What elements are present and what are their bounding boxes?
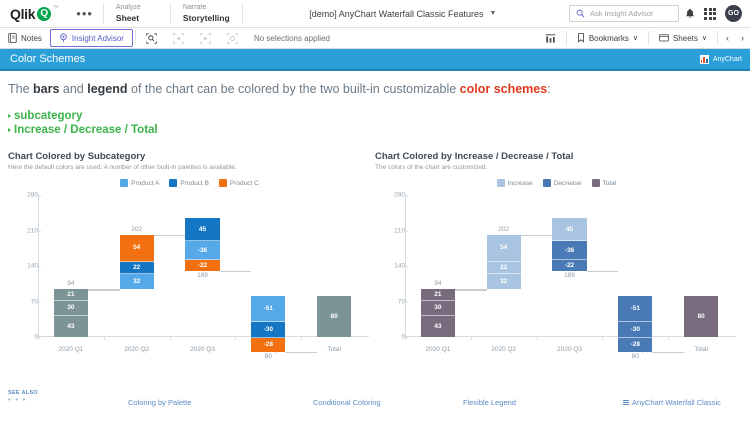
chart-bar-segment[interactable]: -36 — [552, 241, 586, 260]
bookmarks-label: Bookmarks — [589, 34, 629, 43]
x-axis-tick: 2020 Q3 — [557, 346, 582, 353]
chart-bar-segment[interactable]: 30 — [421, 301, 455, 317]
selection-status-text: No selections applied — [254, 34, 330, 43]
chart-bar-segment[interactable]: 80 — [317, 296, 351, 337]
selections-search-button[interactable] — [138, 28, 165, 48]
panel-title: Chart Colored by Increase / Decrease / T… — [375, 151, 738, 162]
y-axis-tick: 280 — [375, 192, 405, 199]
triangle-right-icon — [8, 128, 11, 132]
chart-bar-segment[interactable]: 45 — [552, 218, 586, 241]
y-axis-tick: 140 — [8, 263, 38, 270]
bar-total-label: 80 — [265, 353, 272, 360]
waterfall-connector — [587, 271, 619, 273]
selection-back-button[interactable] — [165, 28, 192, 48]
avatar[interactable]: GO — [725, 5, 742, 22]
anychart-logo-icon — [700, 55, 709, 64]
chart-bar-segment[interactable]: 30 — [54, 301, 88, 317]
previous-sheet-button[interactable]: ‹ — [720, 28, 735, 48]
see-also-block: SEE ALSO • • • — [8, 390, 128, 404]
sheets-icon — [659, 34, 669, 43]
x-axis-tickmark — [602, 337, 603, 340]
insight-advisor-search[interactable]: Ask Insight Advisor — [569, 5, 679, 22]
qlik-logo-badge-icon: Q — [37, 7, 51, 21]
panel-subtitle: Here the default colors are used. A numb… — [8, 164, 371, 171]
y-axis-tick: 210 — [375, 227, 405, 234]
bar-total-label: 94 — [67, 280, 74, 287]
bar-total-label: 189 — [197, 272, 208, 279]
toc-label: subcategory — [14, 109, 82, 123]
chevron-down-icon: ▼ — [489, 10, 496, 17]
notifications-bell-icon[interactable] — [685, 8, 695, 19]
bar-total-label: 202 — [498, 226, 509, 233]
waterfall-chart-subcategory[interactable]: Product AProduct BProduct C 070140210280… — [8, 177, 371, 362]
chart-bar-segment[interactable]: -22 — [185, 260, 219, 271]
bar-total-label: 80 — [632, 353, 639, 360]
next-sheet-button[interactable]: › — [735, 28, 750, 48]
x-axis-tick: Total — [327, 346, 341, 353]
footer: SEE ALSO • • • Coloring by Palette Condi… — [0, 386, 750, 422]
toc-label: Increase / Decrease / Total — [14, 123, 158, 137]
x-axis-tickmark — [668, 337, 669, 340]
qlik-logo-text: Qlik — [10, 6, 35, 22]
anychart-brand-label: AnyChart — [713, 56, 742, 63]
chart-bar[interactable]: 542232 — [120, 235, 154, 290]
page-title: [demo] AnyChart Waterfall Classic Featur… — [309, 9, 483, 19]
chart-bar-segment[interactable]: -28 — [618, 338, 652, 352]
legend-swatch-icon — [592, 179, 600, 187]
chart-plot-area: 0701402102802020 Q12020 Q22020 Q32020 Q4… — [375, 189, 738, 359]
footer-link-flexible-legend[interactable]: Flexible Legend — [463, 398, 623, 407]
x-axis-tickmark — [38, 337, 39, 340]
waterfall-connector — [88, 289, 120, 291]
chart-overview-icon — [545, 33, 556, 44]
topbar-icon-group: GO — [685, 0, 750, 27]
anychart-brand[interactable]: AnyChart — [700, 55, 742, 64]
chart-bar-segment[interactable]: -30 — [618, 322, 652, 338]
search-input[interactable]: Ask Insight Advisor — [590, 9, 653, 18]
chart-bar-segment[interactable]: 43 — [421, 316, 455, 337]
chart-bar-segment[interactable]: -28 — [251, 338, 285, 352]
chart-bar-segment[interactable]: -51 — [618, 296, 652, 322]
intro-part1: The — [8, 82, 33, 96]
y-axis-tick: 70 — [375, 298, 405, 305]
x-axis-tickmark — [170, 337, 171, 340]
see-also-label: SEE ALSO — [8, 390, 128, 396]
legend-swatch-icon — [219, 179, 227, 187]
x-axis-tick: 2020 Q2 — [124, 346, 149, 353]
chart-panels: Chart Colored by Subcategory Here the de… — [8, 151, 742, 362]
legend-label: Product A — [131, 180, 159, 187]
legend-item[interactable]: Decrease — [543, 179, 582, 187]
footer-link-coloring-by-palette[interactable]: Coloring by Palette — [128, 398, 313, 407]
waterfall-chart-idt[interactable]: IncreaseDecreaseTotal 0701402102802020 Q… — [375, 177, 738, 362]
nav-analyze-sublabel: Analyze — [116, 3, 158, 13]
x-axis-tickmark — [405, 337, 406, 340]
insight-advisor-button[interactable]: Insight Advisor — [50, 29, 133, 47]
toc-link-increase-decrease-total[interactable]: Increase / Decrease / Total — [8, 123, 742, 137]
chart-bar[interactable]: 213043 — [421, 289, 455, 337]
app-grid-icon[interactable] — [704, 8, 716, 20]
bar-total-label: 202 — [131, 226, 142, 233]
chart-bar-segment[interactable]: 32 — [487, 274, 521, 290]
legend-label: Decrease — [554, 180, 582, 187]
legend-label: Increase — [508, 180, 533, 187]
sheets-label: Sheets — [673, 34, 698, 43]
legend-item[interactable]: Increase — [497, 179, 533, 187]
legend-item[interactable]: Product B — [169, 179, 209, 187]
chart-legend[interactable]: IncreaseDecreaseTotal — [375, 177, 738, 189]
panel-increase-decrease-total: Chart Colored by Increase / Decrease / T… — [375, 151, 742, 362]
x-axis-tick: 2020 Q1 — [425, 346, 450, 353]
chart-bar[interactable]: -51-30-28 — [251, 296, 285, 351]
menu-icon — [623, 400, 629, 405]
intro-part3: of the chart can be colored by the two b… — [128, 82, 460, 96]
step-forward-icon — [200, 33, 211, 44]
insight-advisor-label: Insight Advisor — [72, 34, 124, 43]
clear-selection-icon — [227, 33, 238, 44]
chart-legend[interactable]: Product AProduct BProduct C — [8, 177, 371, 189]
bar-total-label: 189 — [564, 272, 575, 279]
divider — [566, 31, 567, 45]
anychart-page-header: Color Schemes AnyChart — [0, 49, 750, 71]
panel-title: Chart Colored by Subcategory — [8, 151, 371, 162]
legend-swatch-icon — [497, 179, 505, 187]
qlik-logo[interactable]: Qlik Q ™ — [0, 0, 66, 27]
selection-forward-button[interactable] — [192, 28, 219, 48]
chevron-down-icon: ∨ — [702, 34, 707, 42]
x-axis-tickmark — [301, 337, 302, 340]
chart-bar[interactable]: 80 — [317, 296, 351, 337]
clear-selections-button[interactable] — [219, 28, 246, 48]
nav-analyze-label: Sheet — [116, 13, 158, 24]
x-axis-tickmark — [471, 337, 472, 340]
toc-link-subcategory[interactable]: subcategory — [8, 109, 742, 123]
y-axis-tick: 70 — [8, 298, 38, 305]
divider — [135, 31, 136, 45]
chart-bar[interactable]: 542232 — [487, 235, 521, 290]
y-axis-tick: 140 — [375, 263, 405, 270]
legend-label: Product B — [180, 180, 209, 187]
bookmarks-button[interactable]: Bookmarks ∨ — [569, 28, 646, 48]
x-axis-tickmark — [104, 337, 105, 340]
divider — [648, 31, 649, 45]
trademark-mark: ™ — [53, 5, 58, 11]
step-back-icon — [173, 33, 184, 44]
waterfall-connector — [220, 271, 252, 273]
nav-narrate-label: Storytelling — [183, 13, 230, 24]
legend-item[interactable]: Product C — [219, 179, 259, 187]
chevron-down-icon: ∨ — [633, 34, 638, 42]
chart-bar[interactable]: 213043 — [54, 289, 88, 337]
chart-bar[interactable]: 45-36-22 — [552, 218, 586, 270]
subbar-right-group: Bookmarks ∨ Sheets ∨ ‹ › — [537, 28, 750, 48]
waterfall-connector — [652, 352, 684, 354]
waterfall-connector — [455, 289, 487, 291]
legend-item[interactable]: Total — [592, 179, 617, 187]
lightbulb-icon — [59, 33, 68, 43]
intro-bold-legend: legend — [87, 82, 127, 96]
x-axis-tick: 2020 Q1 — [58, 346, 83, 353]
notes-button[interactable]: Notes — [0, 28, 50, 48]
legend-label: Total — [603, 180, 617, 187]
footer-link-label[interactable]: AnyChart Waterfall Classic — [632, 398, 721, 407]
intro-part4: : — [547, 82, 550, 96]
nav-analyze-sheet[interactable]: Analyze Sheet — [104, 0, 170, 27]
chart-bar-segment[interactable]: 54 — [487, 235, 521, 262]
chart-bar-segment[interactable]: 45 — [185, 218, 219, 241]
legend-swatch-icon — [120, 179, 128, 187]
divider — [717, 31, 718, 45]
bookmark-icon — [577, 33, 585, 43]
qlik-sub-bar: Notes Insight Advisor — [0, 28, 750, 49]
sheet-overview-button[interactable] — [537, 28, 564, 48]
footer-link-anychart-waterfall-classic[interactable]: AnyChart Waterfall Classic — [623, 398, 721, 407]
x-axis-tick: 2020 Q3 — [190, 346, 215, 353]
chart-plot-area: 0701402102802020 Q12020 Q22020 Q32020 Q4… — [8, 189, 371, 359]
chart-bar-segment[interactable]: 80 — [684, 296, 718, 337]
panel-subcategory: Chart Colored by Subcategory Here the de… — [8, 151, 375, 362]
legend-swatch-icon — [543, 179, 551, 187]
chart-bar-segment[interactable]: 54 — [120, 235, 154, 262]
chart-bar-segment[interactable]: 21 — [421, 289, 455, 300]
x-axis-tickmark — [235, 337, 236, 340]
chart-bar-segment[interactable]: -51 — [251, 296, 285, 322]
chart-bar-segment[interactable]: -36 — [185, 241, 219, 260]
bar-total-label: 94 — [434, 280, 441, 287]
nav-narrate-sublabel: Narrate — [183, 3, 230, 13]
y-axis-tick: 280 — [8, 192, 38, 199]
legend-item[interactable]: Product A — [120, 179, 159, 187]
sheets-button[interactable]: Sheets ∨ — [651, 28, 715, 48]
chart-bar-segment[interactable]: 21 — [54, 289, 88, 300]
selection-search-icon — [146, 33, 157, 44]
see-also-dots: • • • — [8, 397, 128, 404]
x-axis-tick: Total — [694, 346, 708, 353]
intro-highlight-color-schemes: color schemes — [460, 82, 548, 96]
x-axis-tickmark — [537, 337, 538, 340]
y-axis-tick: 0 — [375, 334, 405, 341]
search-icon — [576, 9, 585, 18]
intro-bold-bars: bars — [33, 82, 59, 96]
intro-part2: and — [59, 82, 87, 96]
waterfall-connector — [285, 352, 317, 354]
qlik-top-bar: Qlik Q ™ ••• Analyze Sheet Narrate Story… — [0, 0, 750, 28]
chart-bar-segment[interactable]: -30 — [251, 322, 285, 338]
notes-label: Notes — [21, 34, 42, 43]
chart-bar-segment[interactable]: 22 — [487, 262, 521, 274]
legend-label: Product C — [230, 180, 259, 187]
footer-link-conditional-coloring[interactable]: Conditional Coloring — [313, 398, 463, 407]
y-axis-tick: 210 — [8, 227, 38, 234]
chart-bar-segment[interactable]: -22 — [552, 260, 586, 271]
nav-narrate-storytelling[interactable]: Narrate Storytelling — [171, 0, 242, 27]
chart-bar[interactable]: 80 — [684, 296, 718, 337]
selection-status: No selections applied — [246, 28, 338, 48]
panel-subtitle: The colors of the chart are customized. — [375, 164, 738, 171]
chart-bar[interactable]: -51-30-28 — [618, 296, 652, 351]
content-area: The bars and legend of the chart can be … — [0, 71, 750, 362]
document-title-dropdown[interactable]: [demo] AnyChart Waterfall Classic Featur… — [243, 0, 563, 27]
waterfall-connector — [154, 235, 186, 237]
chart-bar-segment[interactable]: 32 — [120, 274, 154, 290]
y-axis-tick: 0 — [8, 334, 38, 341]
footer-links: Coloring by Palette Conditional Coloring… — [128, 398, 742, 407]
chart-bar[interactable]: 45-36-22 — [185, 218, 219, 270]
chart-bar-segment[interactable]: 43 — [54, 316, 88, 337]
more-options-icon[interactable]: ••• — [66, 0, 103, 27]
triangle-right-icon — [8, 114, 11, 118]
notes-icon — [8, 33, 17, 43]
chart-bar-segment[interactable]: 22 — [120, 262, 154, 274]
anychart-page-title: Color Schemes — [10, 53, 85, 65]
legend-swatch-icon — [169, 179, 177, 187]
waterfall-connector — [521, 235, 553, 237]
x-axis-tick: 2020 Q2 — [491, 346, 516, 353]
intro-paragraph: The bars and legend of the chart can be … — [8, 81, 742, 97]
